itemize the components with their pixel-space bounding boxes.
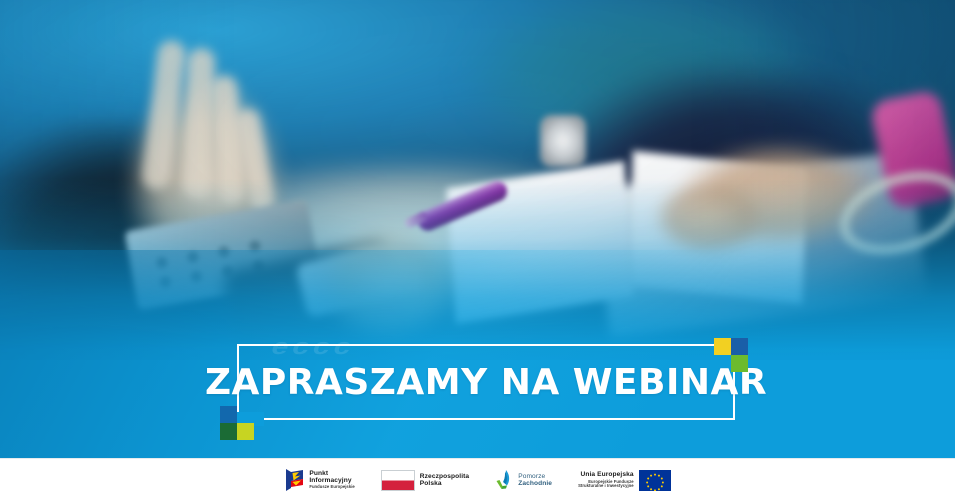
logo-punkt-informacyjny-text: Punkt Informacyjny Fundusze Europejskie [309, 470, 354, 490]
eu-funds-flag-icon [284, 468, 304, 492]
decor-square-lime [237, 423, 254, 440]
sponsor-logo-bar: Punkt Informacyjny Fundusze Europejskie … [0, 458, 955, 500]
logo-rzeczpospolita-polska: Rzeczpospolita Polska [381, 470, 469, 491]
logo-line2: Zachodnie [518, 480, 552, 487]
poland-flag-icon [381, 470, 415, 491]
decor-square-dark-blue [220, 406, 237, 423]
logo-line1: Rzeczpospolita [420, 473, 469, 480]
logo-line1: Pomorze [518, 473, 552, 480]
decor-square-blue [731, 338, 748, 355]
logo-unia-europejska: Unia Europejska Europejskie Fundusze Str… [578, 470, 671, 491]
webinar-banner: eccc ZAPRASZAMY NA WEBINAR Punkt Informa… [0, 0, 955, 500]
decor-square-dark-green [220, 423, 237, 440]
logo-sub2: Strukturalne i Inwestycyjne [578, 484, 634, 489]
meeting-photo [0, 0, 955, 372]
pomorze-zachodnie-icon [495, 469, 513, 491]
logo-unia-europejska-text: Unia Europejska Europejskie Fundusze Str… [578, 471, 634, 488]
logo-rzeczpospolita-polska-text: Rzeczpospolita Polska [420, 473, 469, 487]
logo-line2: Informacyjny [309, 477, 354, 484]
logo-line1: Punkt [309, 470, 354, 477]
decor-square-yellow [714, 338, 731, 355]
logo-pomorze-zachodnie-text: Pomorze Zachodnie [518, 473, 552, 487]
logo-line2: Polska [420, 480, 469, 487]
photo-blue-fade [0, 0, 955, 372]
eu-flag-icon [639, 470, 671, 491]
logo-line1: Unia Europejska [580, 471, 633, 478]
decor-square-green [731, 355, 748, 372]
logo-sub1: Fundusze Europejskie [309, 485, 354, 490]
logo-pomorze-zachodnie: Pomorze Zachodnie [495, 469, 552, 491]
logo-punkt-informacyjny: Punkt Informacyjny Fundusze Europejskie [284, 468, 354, 492]
headline-text: ZAPRASZAMY NA WEBINAR [237, 345, 735, 419]
